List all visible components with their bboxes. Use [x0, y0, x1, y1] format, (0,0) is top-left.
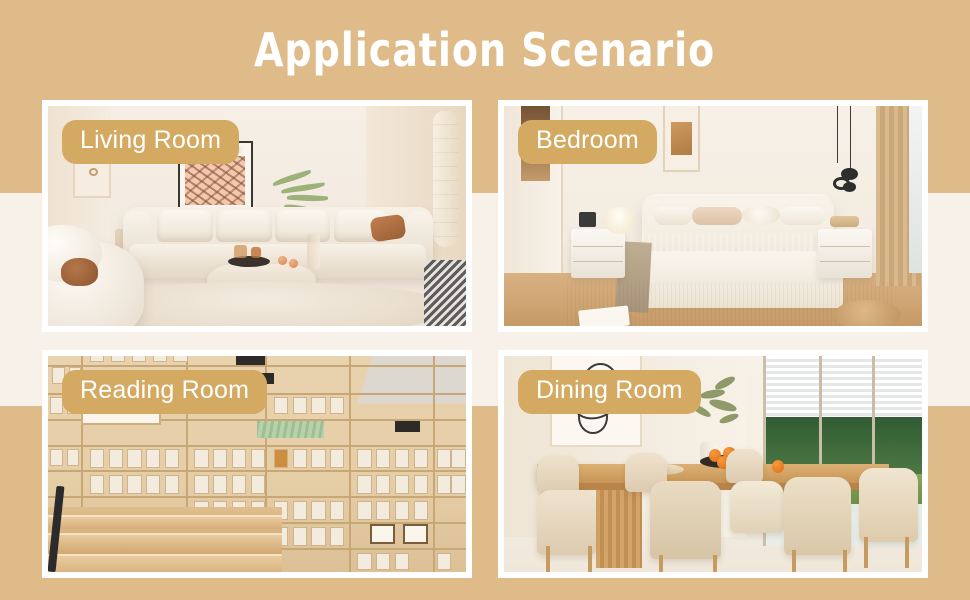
scenario-card-dining-room[interactable]: Dining Room — [498, 350, 928, 578]
window — [909, 106, 922, 273]
dining-chair — [726, 449, 764, 484]
pillow — [780, 207, 826, 225]
scenario-card-bedroom[interactable]: Bedroom — [498, 100, 928, 332]
nightstand-right — [818, 229, 872, 277]
dining-chair — [537, 455, 579, 494]
glass-carafe — [234, 245, 247, 258]
scenario-card-living-room[interactable]: Living Room — [42, 100, 472, 332]
dining-room-photo: Dining Room — [504, 356, 922, 572]
dining-chair-front — [784, 477, 851, 555]
ceiling — [357, 356, 466, 404]
dark-books — [395, 421, 420, 432]
table-lamp — [604, 207, 633, 233]
orange — [772, 460, 785, 473]
pendant-cord — [837, 106, 838, 163]
wall-frame — [663, 106, 701, 172]
pendant-cord — [850, 106, 851, 172]
decor-tray — [830, 216, 859, 227]
page-title: Application Scenario — [254, 23, 715, 77]
fruit — [278, 256, 287, 265]
open-book — [578, 306, 630, 326]
bedroom-photo: Bedroom — [504, 106, 922, 326]
reading-room-photo: Reading Room — [48, 356, 466, 572]
scenario-card-reading-room[interactable]: Reading Room — [42, 350, 472, 578]
nightstand-left — [571, 229, 625, 277]
green-display-panel — [257, 421, 324, 438]
dining-chair-right — [859, 468, 918, 541]
fruit — [289, 259, 298, 268]
dark-books — [236, 356, 265, 365]
pillow — [654, 207, 692, 225]
decor-vase — [579, 212, 596, 227]
page-title-bar: Application Scenario — [0, 0, 970, 100]
table-pedestal — [596, 490, 642, 568]
badge-living-room[interactable]: Living Room — [62, 120, 239, 164]
badge-bedroom[interactable]: Bedroom — [518, 120, 657, 164]
badge-reading-room[interactable]: Reading Room — [62, 370, 267, 414]
flower-pouf — [834, 300, 901, 326]
dining-chair — [730, 481, 784, 533]
glass-vase — [307, 234, 320, 269]
pillow — [692, 207, 742, 225]
knit-throw — [424, 260, 466, 326]
column-lamp — [433, 110, 458, 246]
pendant-light — [830, 168, 868, 197]
badge-dining-room[interactable]: Dining Room — [518, 370, 701, 414]
scenario-grid: Living Room — [42, 100, 928, 578]
teddy-bear — [61, 258, 99, 287]
living-room-photo: Living Room — [48, 106, 466, 326]
dining-chair-front — [650, 481, 721, 559]
wooden-steps — [48, 507, 282, 572]
framed-picture — [370, 524, 395, 543]
dining-chair-front — [537, 490, 596, 555]
accent-pillow — [369, 213, 406, 241]
pillow-round — [742, 205, 780, 225]
framed-picture — [403, 524, 428, 543]
glass-cup — [251, 247, 261, 258]
